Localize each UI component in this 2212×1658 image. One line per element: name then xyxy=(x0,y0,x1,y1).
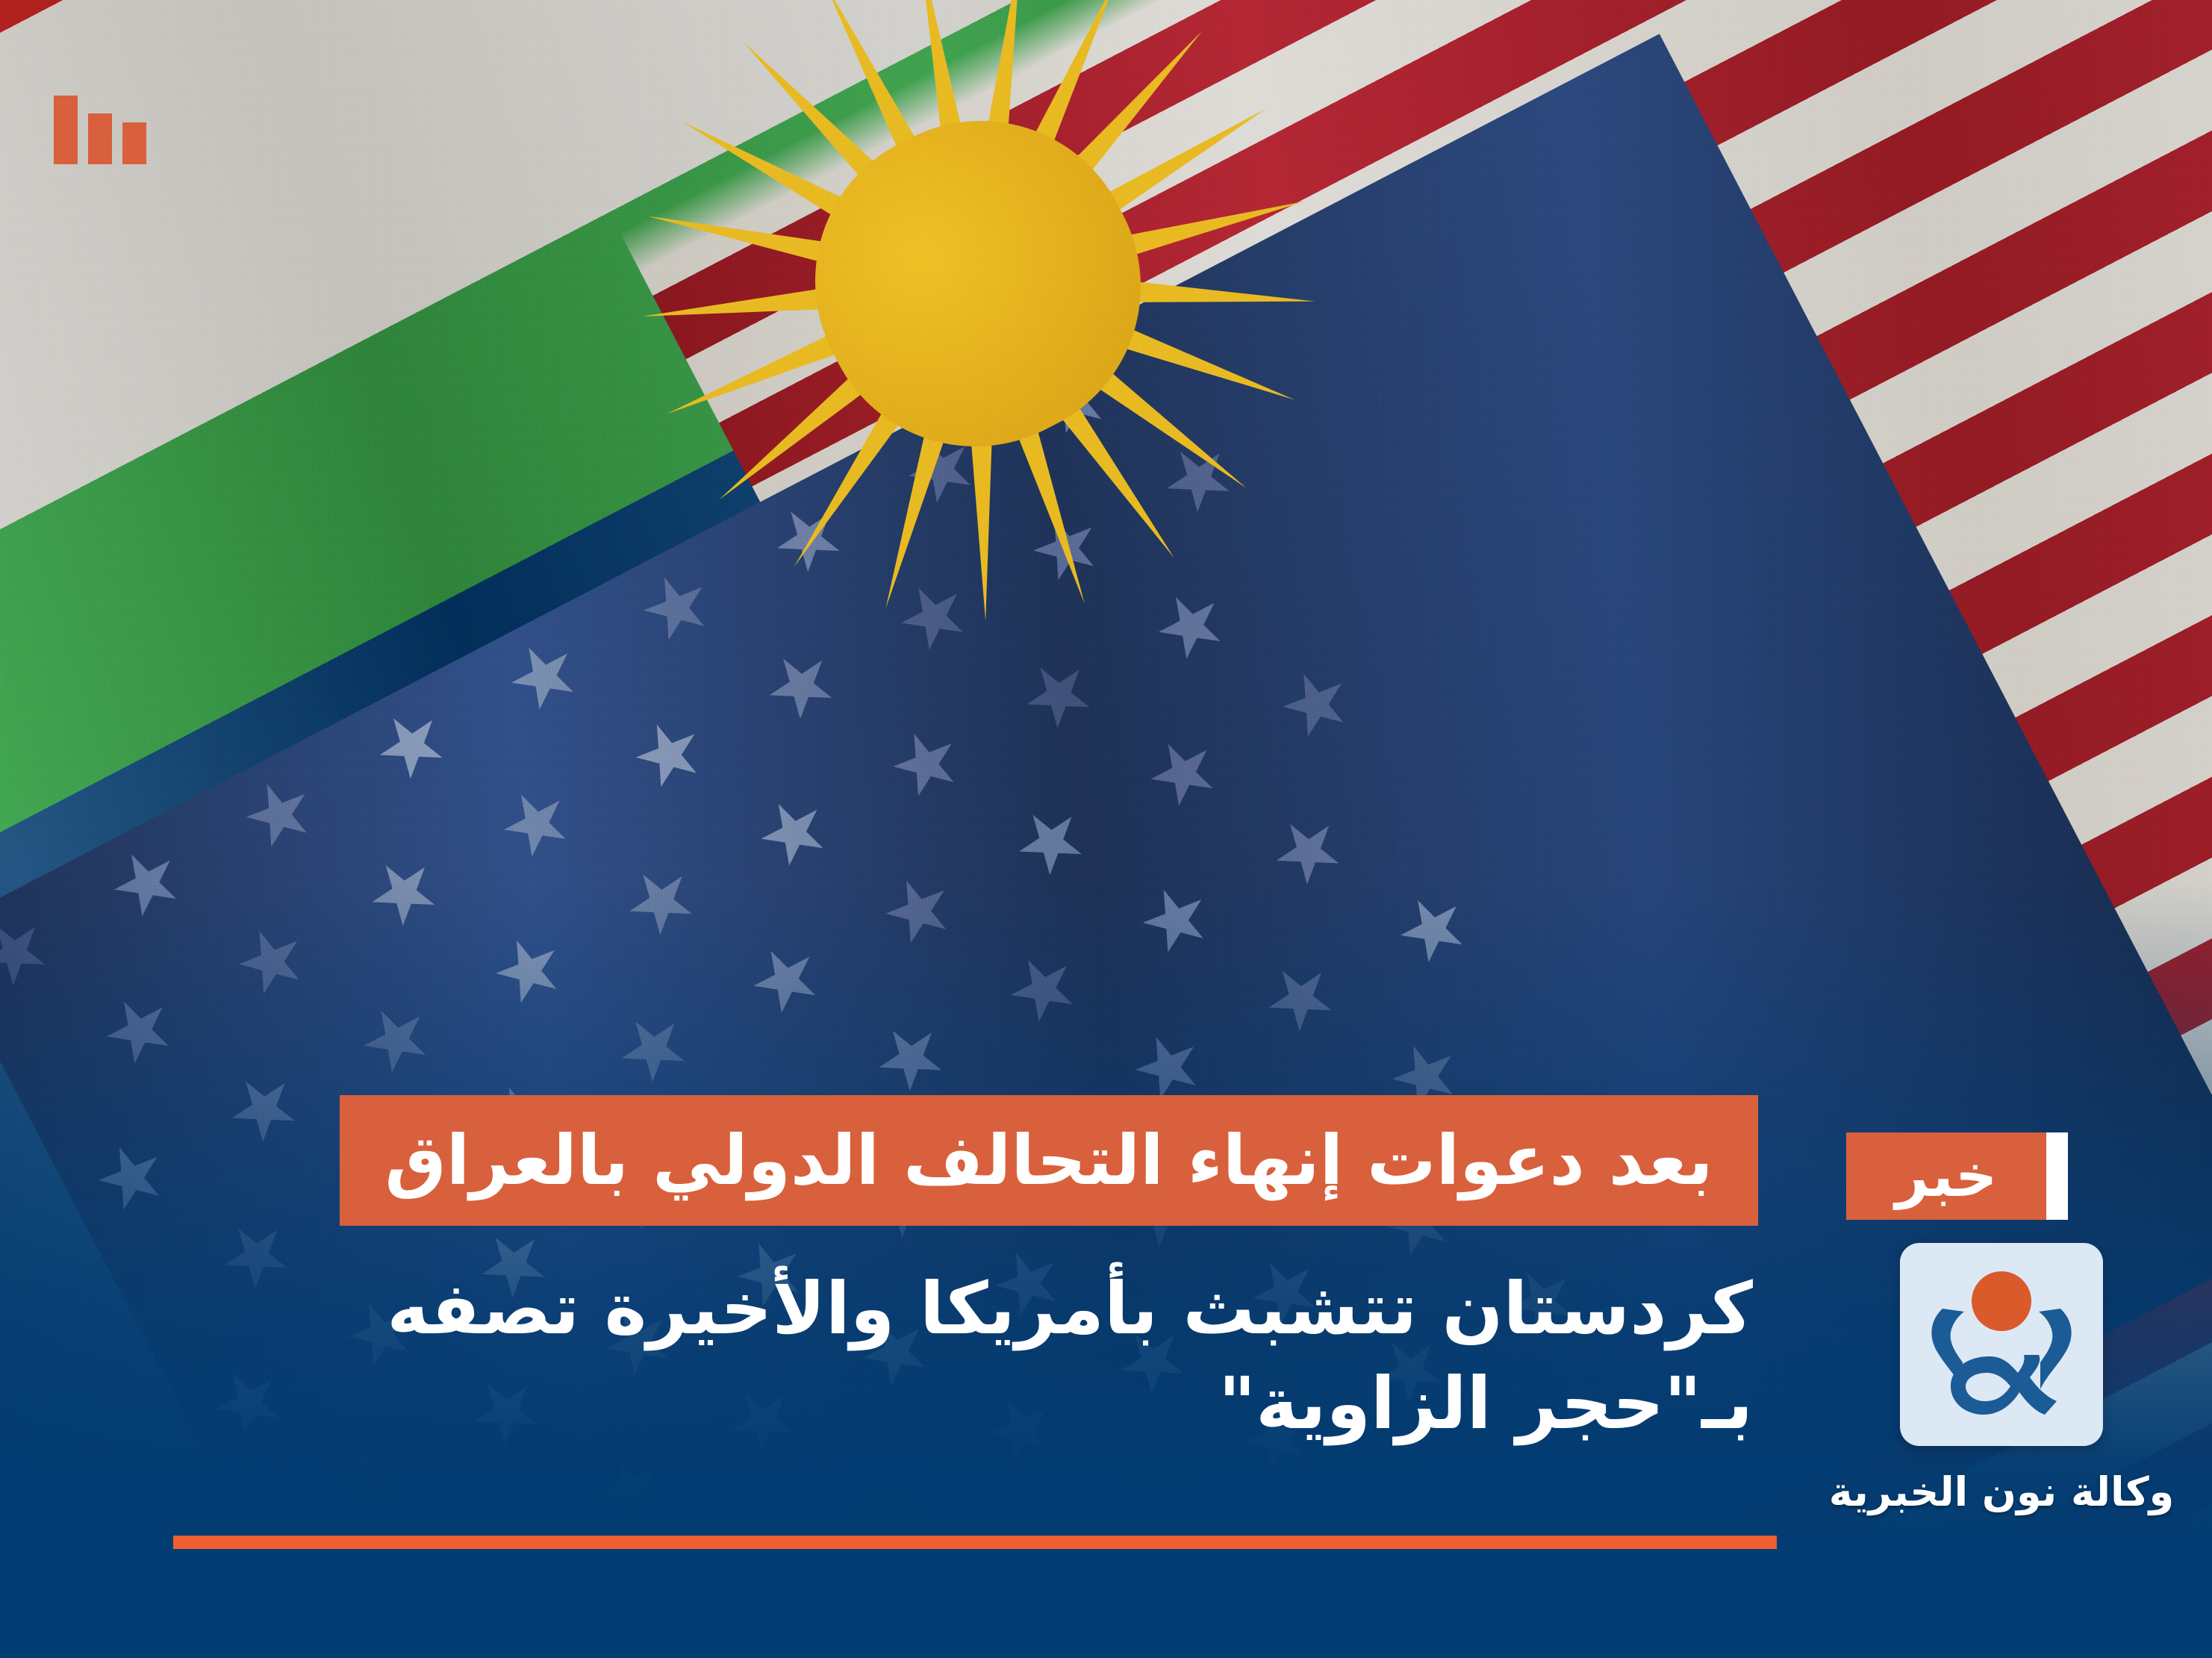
headline-line-1: كردستان تتشبث بأمريكا والأخيرة تصفه xyxy=(439,1262,1753,1356)
news-badge-white-tick xyxy=(2046,1132,2068,1220)
watermark-bar-1 xyxy=(54,96,78,164)
news-badge-fill: خبر xyxy=(1846,1132,2046,1220)
news-card: بعد دعوات إنهاء التحالف الدولي بالعراق ك… xyxy=(0,0,2212,1658)
news-badge-label: خبر xyxy=(1895,1147,1998,1206)
headline-line-2: بـ"حجر الزاوية" xyxy=(439,1356,1753,1451)
headline: كردستان تتشبث بأمريكا والأخيرة تصفه بـ"ح… xyxy=(439,1262,1753,1450)
brand-name: وكالة نون الخبرية xyxy=(1784,1472,2212,1512)
kicker-text: بعد دعوات إنهاء التحالف الدولي بالعراق xyxy=(384,1126,1713,1195)
kicker-banner: بعد دعوات إنهاء التحالف الدولي بالعراق xyxy=(340,1095,1758,1226)
divider-rule xyxy=(173,1536,1777,1549)
news-badge: خبر xyxy=(1846,1132,2068,1220)
navy-footer-band xyxy=(0,1531,2212,1658)
watermark-bar-3 xyxy=(122,122,146,164)
three-bars-watermark-icon xyxy=(54,96,146,164)
watermark-bar-2 xyxy=(88,113,112,164)
noon-agency-logo-icon xyxy=(1900,1243,2103,1446)
